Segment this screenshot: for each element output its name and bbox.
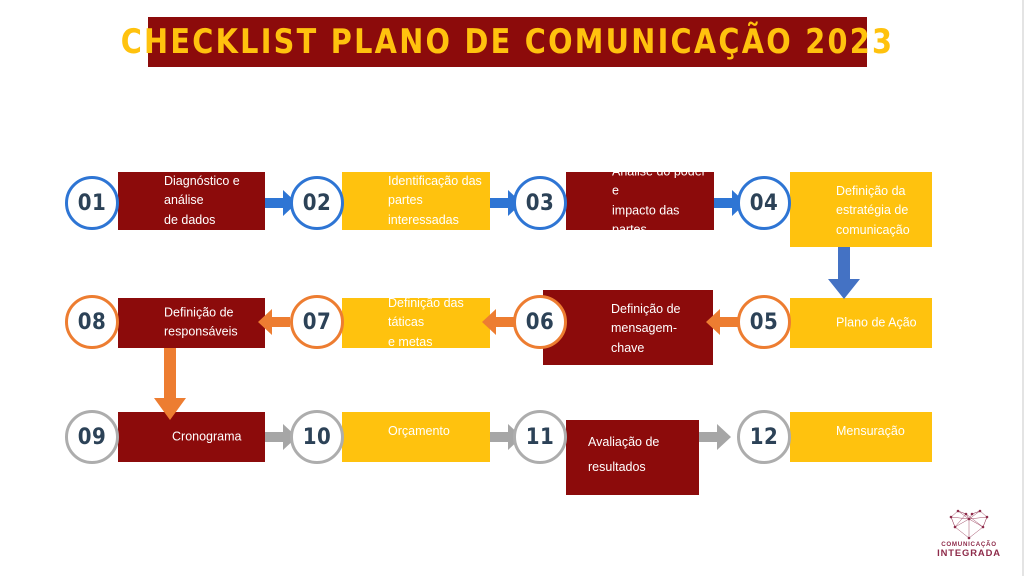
step-circle-10[interactable]: 10: [290, 410, 344, 464]
step-circle-08[interactable]: 08: [65, 295, 119, 349]
step-box-01[interactable]: Diagnóstico e análise de dados: [118, 172, 265, 230]
step-label-09: Cronograma: [172, 427, 257, 446]
step-box-09[interactable]: Cronograma: [118, 412, 265, 462]
step-label-11: Avaliação de resultados: [588, 436, 691, 474]
step-label-08: Definição de responsáveis: [164, 304, 257, 343]
step-label-05: Plano de Ação: [836, 313, 924, 332]
step-circle-12[interactable]: 12: [737, 410, 791, 464]
step-circle-04[interactable]: 04: [737, 176, 791, 230]
step-box-11[interactable]: Avaliação de resultados: [566, 420, 699, 495]
step-number-02: 02: [303, 191, 332, 216]
arrow-06-to-07: [482, 307, 514, 337]
step-number-04: 04: [750, 191, 779, 216]
step-box-05[interactable]: Plano de Ação: [790, 298, 932, 348]
step-label-07: Definição das táticas e metas: [388, 294, 482, 352]
arrow-11-to-12: [699, 422, 731, 452]
step-label-01: Diagnóstico e análise de dados: [164, 172, 257, 230]
slide-canvas: CHECKLIST PLANO DE COMUNICAÇÃO 2023 Diag…: [0, 0, 1024, 576]
step-box-04[interactable]: Definição da estratégia de comunicação: [790, 172, 932, 247]
step-circle-05[interactable]: 05: [737, 295, 791, 349]
logo-line-2: INTEGRADA: [925, 548, 1013, 558]
arrow-05-to-06: [706, 307, 738, 337]
title-banner: CHECKLIST PLANO DE COMUNICAÇÃO 2023: [148, 17, 867, 67]
heart-network-icon: [925, 505, 1013, 541]
step-box-10[interactable]: Orçamento: [342, 412, 490, 462]
page-title: CHECKLIST PLANO DE COMUNICAÇÃO 2023: [121, 25, 895, 59]
step-circle-01[interactable]: 01: [65, 176, 119, 230]
arrow-04-to-05: [826, 247, 862, 299]
step-number-09: 09: [78, 425, 107, 450]
arrow-08-to-09: [152, 348, 188, 420]
step-circle-07[interactable]: 07: [290, 295, 344, 349]
step-label-06: Definição de mensagem- chave: [611, 300, 705, 358]
step-box-07[interactable]: Definição das táticas e metas: [342, 298, 490, 348]
step-number-03: 03: [526, 191, 555, 216]
step-box-06[interactable]: Definição de mensagem- chave: [543, 290, 713, 365]
step-label-10: Orçamento: [388, 422, 482, 441]
step-box-03[interactable]: Análise do poder e impacto das partes: [566, 172, 714, 230]
step-box-12[interactable]: Mensuração: [790, 412, 932, 462]
arrow-07-to-08: [258, 307, 290, 337]
step-number-08: 08: [78, 310, 107, 335]
step-circle-03[interactable]: 03: [513, 176, 567, 230]
step-circle-06[interactable]: 06: [513, 295, 567, 349]
step-number-11: 11: [526, 425, 555, 450]
step-label-02: Identificação das partes interessadas: [388, 172, 482, 230]
brand-logo: COMUNICAÇÃO INTEGRADA: [925, 505, 1013, 567]
step-label-12: Mensuração: [836, 422, 924, 441]
step-number-01: 01: [78, 191, 107, 216]
step-box-08[interactable]: Definição de responsáveis: [118, 298, 265, 348]
step-number-10: 10: [303, 425, 332, 450]
step-circle-09[interactable]: 09: [65, 410, 119, 464]
step-circle-11[interactable]: 11: [513, 410, 567, 464]
step-number-05: 05: [750, 310, 779, 335]
step-box-02[interactable]: Identificação das partes interessadas: [342, 172, 490, 230]
step-circle-02[interactable]: 02: [290, 176, 344, 230]
step-number-06: 06: [526, 310, 555, 335]
step-label-04: Definição da estratégia de comunicação: [836, 182, 924, 240]
step-number-07: 07: [303, 310, 332, 335]
step-number-12: 12: [750, 425, 779, 450]
step-label-03: Análise do poder e impacto das partes: [612, 162, 706, 240]
